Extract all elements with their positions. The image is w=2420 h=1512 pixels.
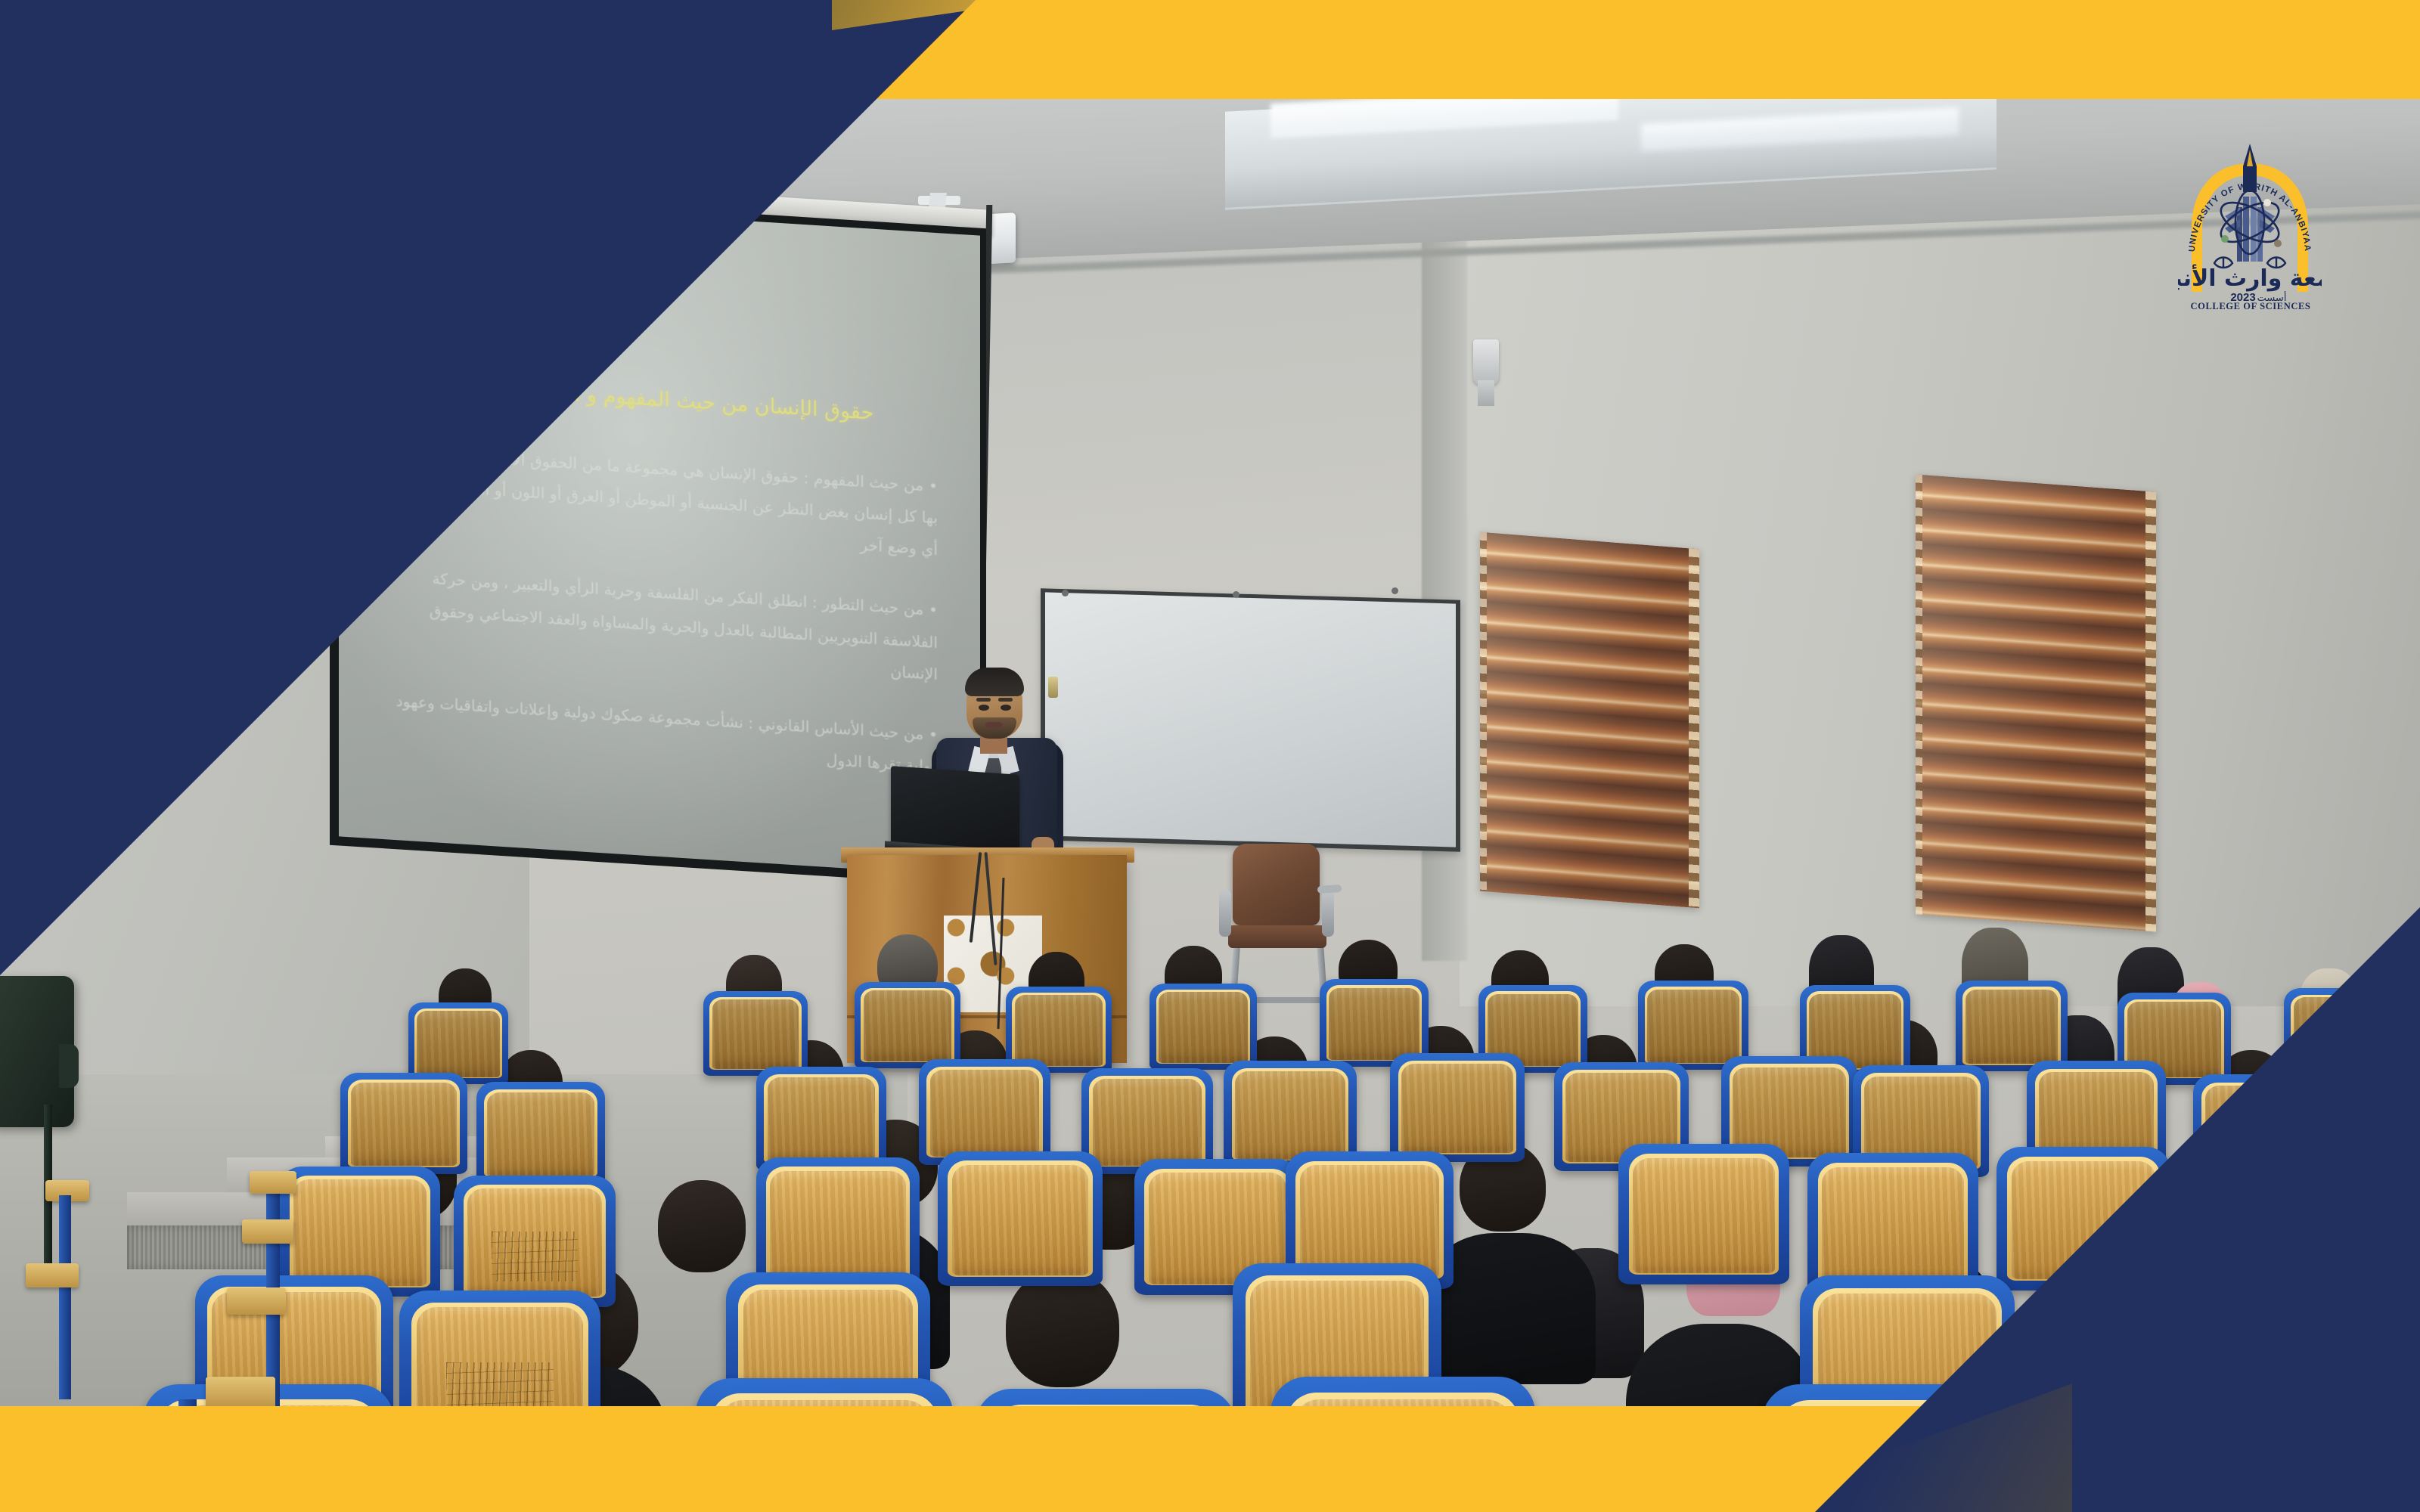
seat-grain xyxy=(952,1165,1089,1275)
seat-grain xyxy=(930,1070,1039,1157)
auditorium-seat xyxy=(938,1151,1103,1286)
seat-armrest xyxy=(250,1171,296,1194)
seat-grain xyxy=(864,990,951,1061)
seat-panel xyxy=(417,1307,584,1406)
window-blinds xyxy=(1916,474,2156,931)
seat-panel xyxy=(712,999,799,1069)
seat-frame xyxy=(976,1389,1236,1406)
seat-panel xyxy=(351,1083,456,1166)
seat-grain xyxy=(467,1188,602,1297)
seat-panel xyxy=(417,1011,500,1078)
seat-panel xyxy=(1235,1071,1345,1159)
seat-grain xyxy=(1401,1064,1513,1153)
seat-grain xyxy=(293,1179,427,1286)
seat-grain xyxy=(1293,1399,1513,1406)
blinds-rail-right xyxy=(2145,491,2156,932)
auditorium-seat xyxy=(756,1157,920,1290)
whiteboard-fastener xyxy=(1062,590,1069,596)
whiteboard-fastener xyxy=(1233,591,1239,598)
audience-head xyxy=(658,1180,746,1272)
seat-grain xyxy=(770,1171,905,1280)
seat-grain xyxy=(417,1307,584,1406)
seat-grain xyxy=(712,999,799,1069)
auditorium-seat xyxy=(855,982,960,1068)
seat-panel xyxy=(1401,1064,1513,1153)
auditorium-seat xyxy=(476,1082,605,1185)
chair-armrest xyxy=(1322,890,1334,937)
seat-grain xyxy=(351,1083,456,1166)
seat-panel xyxy=(1015,995,1103,1065)
leather-office-chair xyxy=(1233,844,1320,925)
audience-head xyxy=(1006,1269,1119,1387)
blinds-sheen xyxy=(1480,532,1699,909)
seat-armrest xyxy=(206,1377,275,1406)
auditorium-seat xyxy=(976,1389,1236,1406)
auditorium-seat xyxy=(919,1059,1050,1165)
presenter-eyebrow xyxy=(998,698,1013,702)
seat-panel xyxy=(1293,1399,1513,1406)
presenter-mouth xyxy=(985,722,1002,728)
seat-grain xyxy=(1329,988,1419,1060)
seat-grain xyxy=(1300,1165,1439,1278)
wall-speaker-base xyxy=(1478,380,1494,406)
seat-grain xyxy=(1015,995,1103,1065)
seat-grain xyxy=(1633,1158,1775,1274)
seat-panel xyxy=(1159,992,1248,1062)
seat-armrest xyxy=(26,1263,79,1287)
university-logo: UNIVERSITY OF WARITH AL-ANBIYAA xyxy=(2178,144,2322,325)
seat-panel xyxy=(1300,1165,1439,1278)
seat-panel xyxy=(718,1400,931,1406)
wall-speaker-icon xyxy=(1473,339,1499,385)
window-blinds xyxy=(1480,532,1699,909)
logo-caption: COLLEGE OF SCIENCES xyxy=(2176,301,2325,312)
whiteboard-clip-icon xyxy=(1048,677,1058,698)
seat-panel xyxy=(1633,1158,1775,1274)
seat-panel xyxy=(768,1077,876,1163)
seat-grain xyxy=(1159,992,1248,1062)
auditorium-seat xyxy=(454,1176,616,1307)
seat-grain xyxy=(487,1092,594,1177)
seat-panel xyxy=(293,1179,427,1286)
seat-panel xyxy=(467,1188,602,1297)
seat-grain xyxy=(1647,990,1739,1063)
auditorium-seat xyxy=(696,1378,953,1406)
blinds-rail-right xyxy=(1689,548,1699,908)
whiteboard xyxy=(1045,592,1456,847)
navy-corner-top-left xyxy=(0,0,976,975)
auditorium-seat xyxy=(703,991,808,1076)
navy-corner-bottom-right xyxy=(1815,907,2420,1512)
auditorium-seat xyxy=(1149,984,1257,1070)
seat-panel xyxy=(1647,990,1739,1063)
seat-grain xyxy=(417,1011,500,1078)
chair-seat xyxy=(1228,925,1326,948)
seat-armrest xyxy=(242,1219,293,1244)
seat-armrest xyxy=(227,1287,286,1315)
seat-grain xyxy=(1235,1071,1345,1159)
auditorium-seat xyxy=(399,1290,600,1406)
logo-arabic-name: جامعة وارث الأنبياء xyxy=(2178,264,2322,292)
seat-panel xyxy=(1329,988,1419,1060)
blinds-rail-left xyxy=(1916,474,1922,915)
presenter-eye xyxy=(979,705,989,711)
blinds-rail-left xyxy=(1480,532,1487,892)
seat-support-pole xyxy=(59,1195,71,1399)
auditorium-seat xyxy=(1390,1053,1525,1162)
blinds-sheen xyxy=(1916,474,2156,931)
seat-support-pole xyxy=(178,1399,197,1406)
chair-armrest xyxy=(1219,890,1231,937)
seat-grain xyxy=(718,1400,931,1406)
seat-grain xyxy=(768,1077,876,1163)
auditorium-seat xyxy=(1618,1144,1789,1284)
auditorium-seat xyxy=(756,1067,886,1171)
auditorium-seat xyxy=(340,1073,467,1174)
whiteboard-fastener xyxy=(1391,587,1398,594)
seat-panel xyxy=(1093,1079,1202,1166)
presenter-eye xyxy=(1001,705,1011,711)
seat-panel xyxy=(487,1092,594,1177)
seat-grain xyxy=(1093,1079,1202,1166)
seat-panel xyxy=(864,990,951,1061)
seat-panel xyxy=(952,1165,1089,1275)
event-photo-frame: حقوق الإنسان من حيث المفهوم و الأسس القا… xyxy=(0,0,2420,1512)
presenter-eyebrow xyxy=(976,698,991,702)
seat-panel xyxy=(770,1171,905,1280)
seat-panel xyxy=(930,1070,1039,1157)
side-equipment-knob xyxy=(59,1044,79,1088)
auditorium-seat xyxy=(408,1002,508,1084)
auditorium-seat xyxy=(1270,1377,1535,1406)
